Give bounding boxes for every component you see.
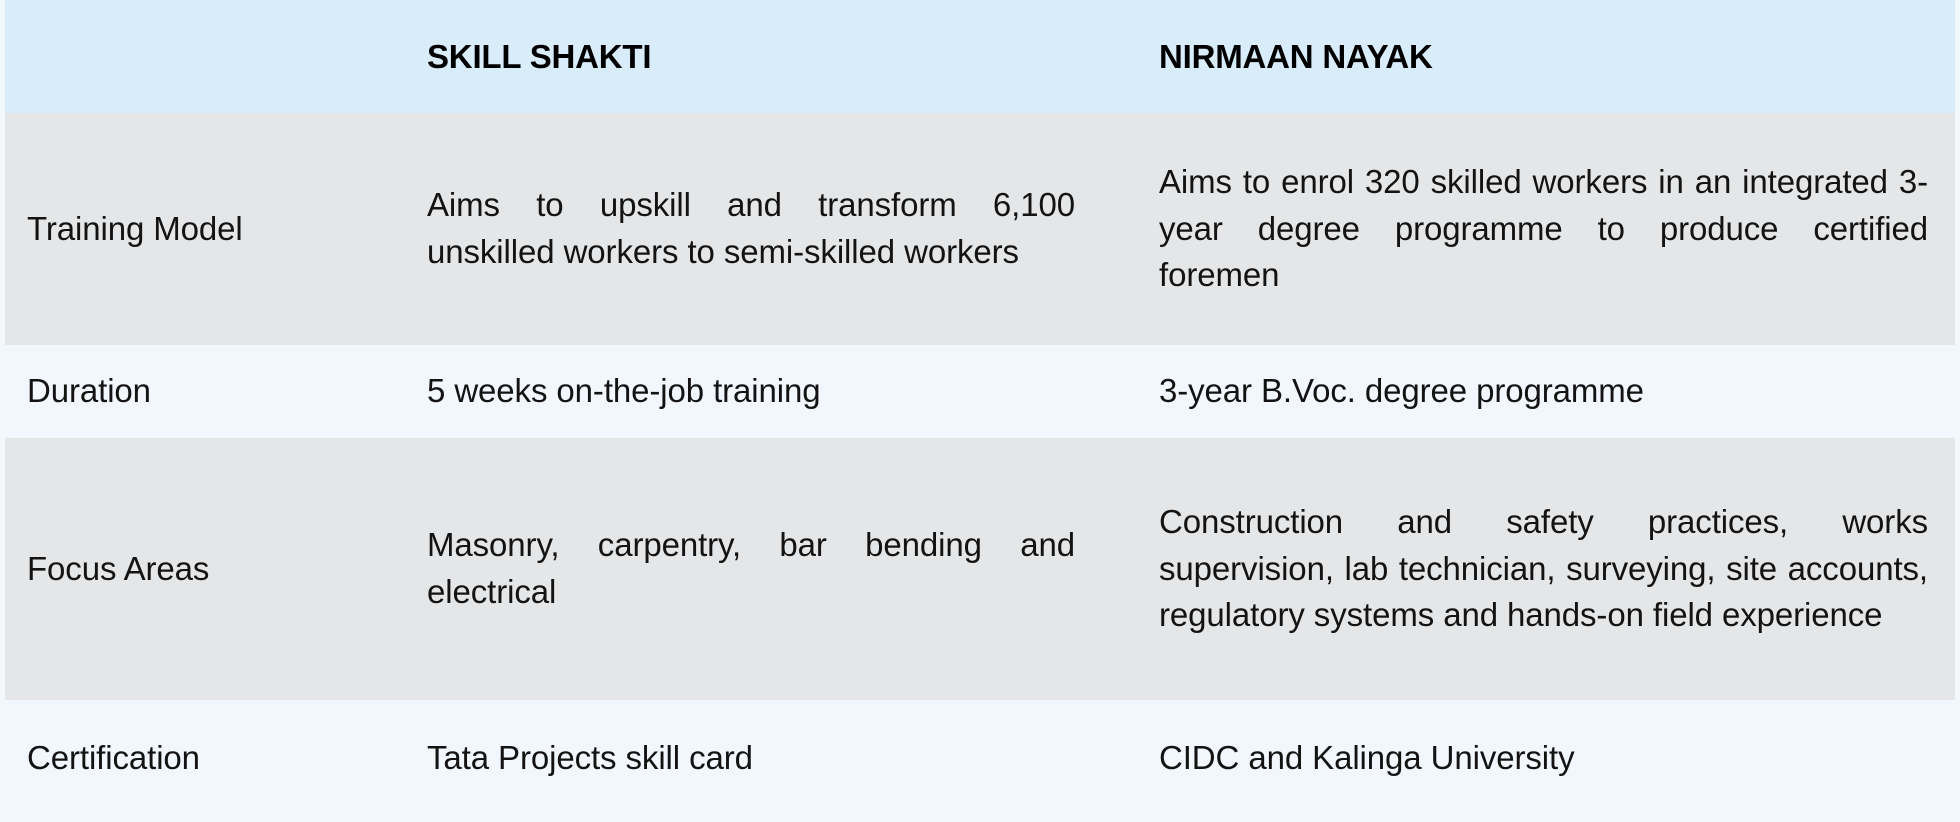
cell-certification-nirmaan-nayak: CIDC and Kalinga University bbox=[1132, 700, 1955, 816]
cell-duration-nirmaan-nayak: 3-year B.Voc. degree programme bbox=[1132, 345, 1955, 438]
header-cell-skill-shakti: SKILL SHAKTI bbox=[422, 37, 1132, 77]
cell-focus-areas-nirmaan-nayak: Construction and safety practices, works… bbox=[1132, 438, 1955, 700]
cell-training-model-nirmaan-nayak: Aims to enrol 320 skilled workers in an … bbox=[1132, 113, 1955, 345]
row-label-focus-areas: Focus Areas bbox=[5, 438, 422, 700]
header-label-skill-shakti: SKILL SHAKTI bbox=[427, 37, 1075, 77]
table-row: Certification Tata Projects skill card C… bbox=[0, 700, 1960, 816]
table-row: Training Model Aims to upskill and trans… bbox=[0, 113, 1960, 345]
row-label-text: Duration bbox=[27, 371, 410, 411]
cell-text: Construction and safety practices, works… bbox=[1159, 499, 1928, 640]
comparison-table: SKILL SHAKTI NIRMAAN NAYAK Training Mode… bbox=[0, 0, 1960, 822]
cell-text: Aims to enrol 320 skilled workers in an … bbox=[1159, 159, 1928, 300]
row-label-text: Focus Areas bbox=[27, 549, 410, 589]
table-row: Focus Areas Masonry, carpentry, bar bend… bbox=[0, 438, 1960, 700]
page-bottom-edge bbox=[0, 816, 1960, 822]
cell-certification-skill-shakti: Tata Projects skill card bbox=[422, 700, 1132, 816]
header-cell-nirmaan-nayak: NIRMAAN NAYAK bbox=[1132, 37, 1955, 77]
row-label-text: Certification bbox=[27, 738, 410, 778]
cell-text: 3-year B.Voc. degree programme bbox=[1159, 368, 1928, 415]
table-row: Duration 5 weeks on-the-job training 3-y… bbox=[0, 345, 1960, 438]
header-label-nirmaan-nayak: NIRMAAN NAYAK bbox=[1159, 37, 1928, 77]
cell-text: CIDC and Kalinga University bbox=[1159, 735, 1928, 782]
row-label-training-model: Training Model bbox=[5, 113, 422, 345]
cell-text: 5 weeks on-the-job training bbox=[427, 368, 1075, 415]
row-label-duration: Duration bbox=[5, 345, 422, 438]
row-label-certification: Certification bbox=[5, 700, 422, 816]
row-label-text: Training Model bbox=[27, 209, 410, 249]
cell-training-model-skill-shakti: Aims to upskill and transform 6,100 unsk… bbox=[422, 113, 1132, 345]
cell-text: Tata Projects skill card bbox=[427, 735, 1075, 782]
cell-text: Aims to upskill and transform 6,100 unsk… bbox=[427, 182, 1075, 276]
cell-text: Masonry, carpentry, bar bending and elec… bbox=[427, 522, 1075, 616]
cell-focus-areas-skill-shakti: Masonry, carpentry, bar bending and elec… bbox=[422, 438, 1132, 700]
cell-duration-skill-shakti: 5 weeks on-the-job training bbox=[422, 345, 1132, 438]
table-header-row: SKILL SHAKTI NIRMAAN NAYAK bbox=[0, 0, 1960, 113]
